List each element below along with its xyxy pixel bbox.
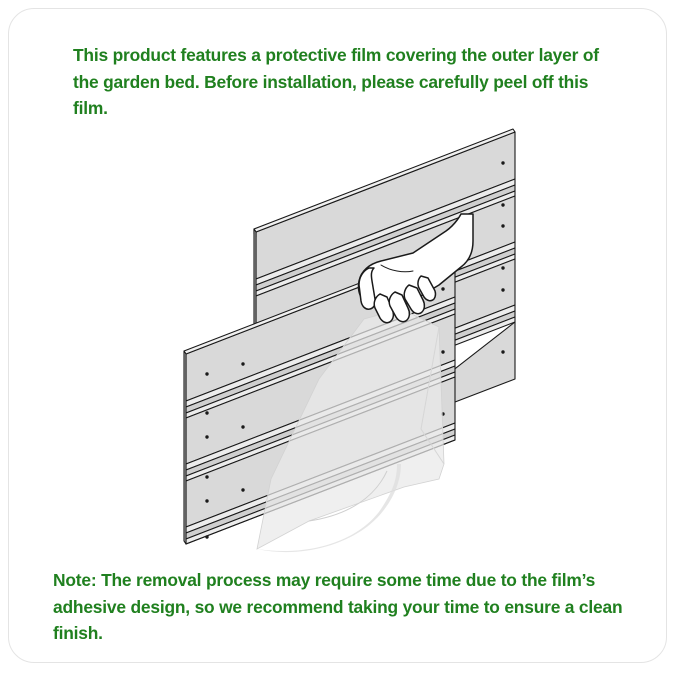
peeling-hand	[358, 214, 473, 323]
bottom-note-text: Note: The removal process may require so…	[53, 567, 631, 647]
protective-film-sheet	[257, 309, 444, 552]
illustration-scene	[184, 129, 515, 552]
instruction-card: This product features a protective film …	[8, 8, 667, 663]
panel-rivets-upper	[275, 161, 504, 410]
top-instruction-text: This product features a protective film …	[73, 42, 618, 122]
lower-left-panel-wall	[184, 247, 455, 544]
panel-rivets-lower	[205, 287, 444, 538]
upper-right-panel-wall	[254, 129, 515, 422]
